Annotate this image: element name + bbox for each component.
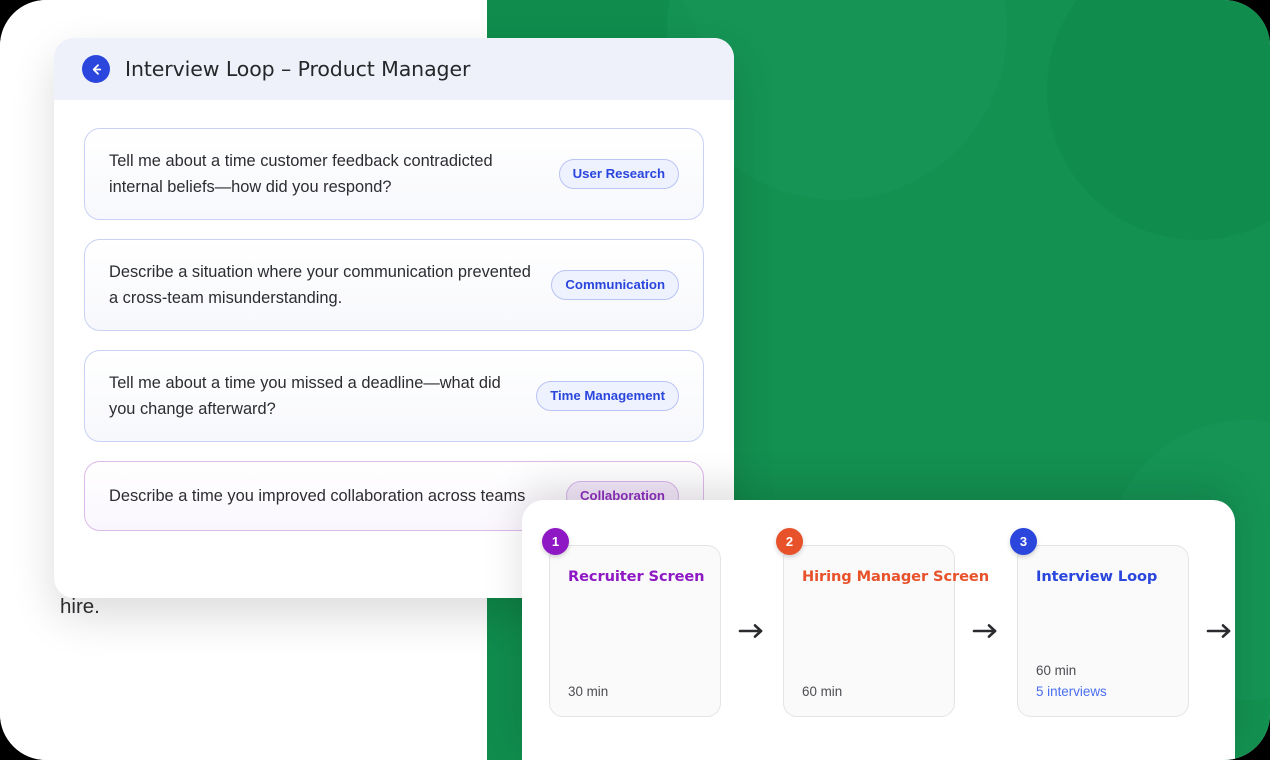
- stage-card-hiring-manager-screen[interactable]: 2 Hiring Manager Screen 60 min: [783, 545, 955, 717]
- stage-card-recruiter-screen[interactable]: 1 Recruiter Screen 30 min: [549, 545, 721, 717]
- question-tag[interactable]: Time Management: [536, 381, 679, 411]
- question-card[interactable]: Tell me about a time you missed a deadli…: [84, 350, 704, 442]
- stage-meta: 60 min 5 interviews: [1036, 660, 1107, 702]
- arrow-right-icon: [738, 621, 766, 641]
- question-card[interactable]: Tell me about a time customer feedback c…: [84, 128, 704, 220]
- stage-interviews-link[interactable]: 5 interviews: [1036, 681, 1107, 702]
- pipeline-stage: 3 Interview Loop 60 min 5 interviews: [1017, 545, 1189, 717]
- stage-name: Hiring Manager Screen: [802, 568, 936, 585]
- stage-duration: 30 min: [568, 681, 608, 702]
- decorative-blob: [1047, 0, 1270, 240]
- slide-frame: The fastest path to a great hire is a be…: [0, 0, 1270, 760]
- pipeline-stage-row: 1 Recruiter Screen 30 min 2 Hiring Manag…: [549, 545, 1235, 717]
- question-text: Describe a situation where your communic…: [109, 259, 537, 311]
- stage-meta: 30 min: [568, 681, 608, 702]
- stage-name: Recruiter Screen: [568, 568, 702, 585]
- question-list: Tell me about a time customer feedback c…: [54, 100, 734, 531]
- arrow-right-icon: [972, 621, 1000, 641]
- question-text: Describe a time you improved collaborati…: [109, 483, 552, 509]
- question-text: Tell me about a time you missed a deadli…: [109, 370, 522, 422]
- stage-connector-arrow: [955, 621, 1017, 641]
- back-button[interactable]: [82, 55, 110, 83]
- stage-card-interview-loop[interactable]: 3 Interview Loop 60 min 5 interviews: [1017, 545, 1189, 717]
- question-text: Tell me about a time customer feedback c…: [109, 148, 545, 200]
- stage-number-badge: 3: [1010, 528, 1037, 555]
- stage-name: Interview Loop: [1036, 568, 1170, 585]
- stage-duration: 60 min: [802, 681, 842, 702]
- stage-connector-arrow-trailing: [1189, 621, 1235, 641]
- arrow-right-icon: [1206, 621, 1234, 641]
- stage-meta: 60 min: [802, 681, 842, 702]
- window-header: Interview Loop – Product Manager: [54, 38, 734, 100]
- stage-connector-arrow: [721, 621, 783, 641]
- stage-duration: 60 min: [1036, 660, 1107, 681]
- question-card[interactable]: Describe a situation where your communic…: [84, 239, 704, 331]
- pipeline-stage: 2 Hiring Manager Screen 60 min: [783, 545, 955, 717]
- question-tag[interactable]: User Research: [559, 159, 679, 189]
- stage-number-badge: 2: [776, 528, 803, 555]
- pipeline-panel: 1 Recruiter Screen 30 min 2 Hiring Manag…: [522, 500, 1235, 760]
- pipeline-stage: 1 Recruiter Screen 30 min: [549, 545, 721, 717]
- arrow-left-icon: [89, 62, 104, 77]
- window-title: Interview Loop – Product Manager: [125, 57, 470, 81]
- stage-number-badge: 1: [542, 528, 569, 555]
- question-tag[interactable]: Communication: [551, 270, 679, 300]
